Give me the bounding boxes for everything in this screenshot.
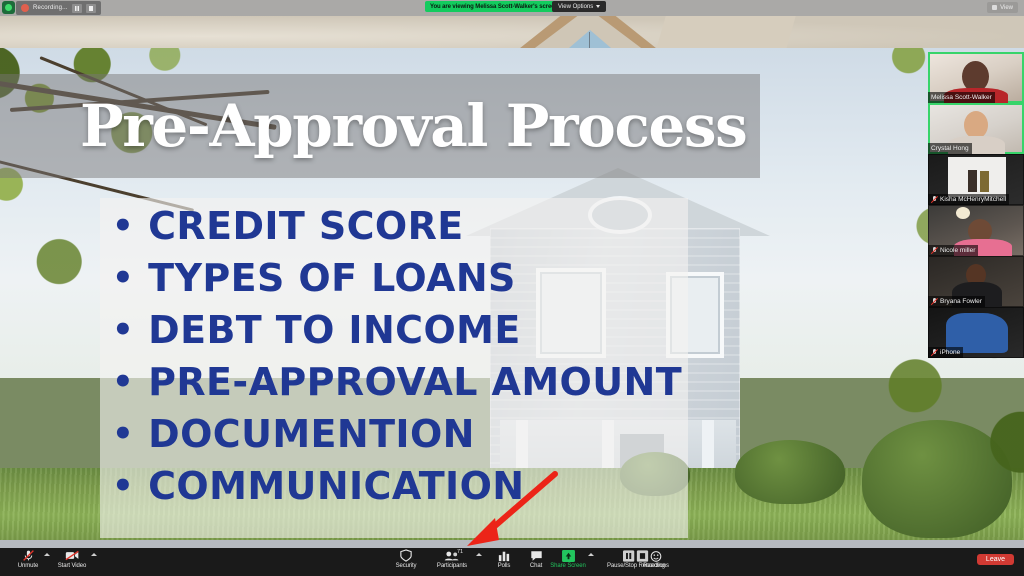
participant-thumbnail[interactable]: Melissa Scott-Walker [928, 52, 1024, 103]
security-label: Security [396, 563, 417, 569]
share-screen-label: Share Screen [550, 563, 586, 569]
participants-label: Participants [437, 563, 467, 569]
chat-label: Chat [530, 563, 542, 569]
participant-name-label: Kisha McHenryMitchell [928, 194, 1009, 205]
start-video-button[interactable]: Start Video [52, 550, 92, 569]
slide-title: Pre-Approval Process [80, 80, 780, 172]
people-icon: 71 [444, 550, 460, 562]
chevron-up-icon[interactable] [44, 553, 50, 556]
bullet-item: •TYPES OF LOANS [112, 252, 712, 304]
slide-bullet-list: •CREDIT SCORE •TYPES OF LOANS •DEBT TO I… [112, 200, 712, 512]
bullet-text: PRE-APPROVAL AMOUNT [148, 360, 682, 404]
chevron-up-icon[interactable] [476, 553, 482, 556]
screen-share-banner: You are viewing Melissa Scott-Walker's s… [425, 1, 563, 12]
recording-indicator: Recording... [16, 1, 101, 15]
share-screen-icon [562, 550, 575, 562]
zoom-meeting-window: Recording... View You are viewing Meliss… [0, 0, 1024, 576]
bullet-text: CREDIT SCORE [148, 204, 464, 248]
participant-name-label: Crystal Hong [928, 143, 972, 154]
recording-dot-icon [21, 4, 29, 12]
polls-label: Polls [498, 563, 511, 569]
stop-recording-button[interactable] [86, 4, 96, 13]
bar-chart-icon [498, 550, 510, 562]
mic-muted-icon [931, 349, 937, 357]
bullet-text: DOCUMENTION [148, 412, 475, 456]
chat-bubble-icon [530, 550, 543, 562]
participant-thumbnail[interactable]: Bryana Fowler [928, 256, 1024, 307]
reactions-emoji-icon [650, 550, 662, 562]
mic-muted-icon [931, 247, 937, 255]
chevron-down-icon [596, 5, 600, 8]
participant-thumbnail-strip: Melissa Scott-Walker Crystal Hong Kisha … [928, 52, 1024, 358]
unmute-button[interactable]: Unmute [8, 550, 48, 569]
bullet-text: DEBT TO INCOME [148, 308, 521, 352]
participant-thumbnail[interactable]: iPhone [928, 307, 1024, 358]
participant-name-label: Melissa Scott-Walker [928, 92, 995, 103]
pause-recording-button[interactable] [72, 4, 82, 13]
bullet-item: •PRE-APPROVAL AMOUNT [112, 356, 712, 408]
share-screen-button[interactable]: Share Screen [548, 550, 588, 569]
participant-name-label: Nicole miller [928, 245, 978, 256]
bullet-item: •CREDIT SCORE [112, 200, 712, 252]
reactions-label: Reactions [643, 563, 669, 569]
participant-thumbnail[interactable]: Kisha McHenryMitchell [928, 154, 1024, 205]
view-button-label: View [1000, 5, 1013, 11]
view-options-button[interactable]: View Options [552, 1, 606, 12]
participant-thumbnail[interactable]: Nicole miller [928, 205, 1024, 256]
mic-muted-icon [931, 196, 937, 204]
unmute-label: Unmute [18, 563, 38, 569]
participant-name-label: Bryana Fowler [928, 296, 985, 307]
zoom-app-icon [2, 1, 15, 14]
microphone-muted-icon [22, 550, 35, 562]
chevron-up-icon[interactable] [588, 553, 594, 556]
bullet-item: •DEBT TO INCOME [112, 304, 712, 356]
security-button[interactable]: Security [386, 550, 426, 569]
leave-label: Leave [986, 556, 1005, 563]
camera-muted-icon [65, 550, 80, 562]
presenter-camera-backdrop [0, 16, 1024, 50]
bullet-item: •DOCUMENTION [112, 408, 712, 460]
screen-share-letterbox [0, 540, 1024, 548]
start-video-label: Start Video [58, 563, 86, 569]
bullet-text: COMMUNICATION [148, 464, 524, 508]
participants-count-badge: 71 [457, 549, 463, 555]
meeting-toolbar: Unmute Start Video Security [0, 548, 1024, 576]
bullet-item: •COMMUNICATION [112, 460, 712, 512]
view-options-label: View Options [558, 4, 593, 10]
shield-icon [400, 550, 412, 562]
recording-label: Recording... [33, 5, 68, 11]
view-layout-button[interactable]: View [987, 2, 1018, 13]
shared-screen-content: Pre-Approval Process •CREDIT SCORE •TYPE… [0, 48, 1024, 540]
participants-button[interactable]: 71 Participants [432, 550, 472, 569]
reactions-button[interactable]: Reactions [636, 550, 676, 569]
participant-thumbnail[interactable]: Crystal Hong [928, 103, 1024, 154]
screen-share-banner-text: You are viewing Melissa Scott-Walker's s… [430, 4, 558, 10]
chevron-up-icon[interactable] [91, 553, 97, 556]
bullet-text: TYPES OF LOANS [148, 256, 516, 300]
mic-muted-icon [931, 298, 937, 306]
leave-meeting-button[interactable]: Leave [977, 554, 1014, 565]
participant-name-label: iPhone [928, 347, 963, 358]
grid-icon [992, 5, 997, 10]
